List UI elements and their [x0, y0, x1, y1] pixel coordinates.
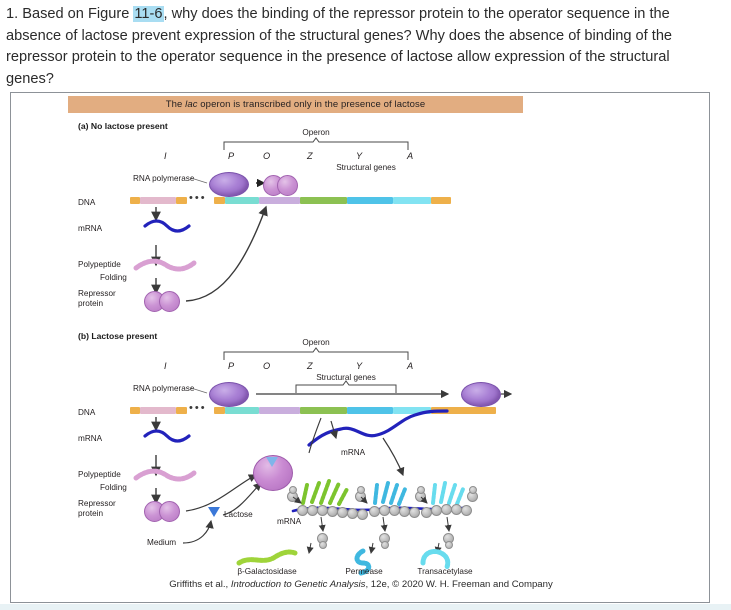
- credit-italic-title: Introduction to Genetic Analysis: [231, 579, 366, 590]
- figure-reference-highlight: 11-6: [133, 6, 163, 22]
- product-label-permease: Permease: [329, 567, 399, 576]
- credit-after: , 12e, © 2020 W. H. Freeman and Company: [365, 579, 552, 590]
- figure-credit: Griffiths et al., Introduction to Geneti…: [11, 579, 711, 590]
- question-prefix: 1. Based on Figure: [6, 6, 133, 22]
- product-label-transacetylase: Transacetylase: [401, 567, 489, 576]
- folded-protein-products: [11, 93, 711, 604]
- product-label-beta-galactosidase: β-Galactosidase: [217, 567, 317, 576]
- credit-before: Griffiths et al.,: [169, 579, 231, 590]
- question-text: 1. Based on Figure 11-6, why does the bi…: [6, 4, 720, 90]
- textbook-figure: The lac operon is transcribed only in th…: [10, 92, 710, 603]
- page-bottom-strip: [0, 604, 731, 610]
